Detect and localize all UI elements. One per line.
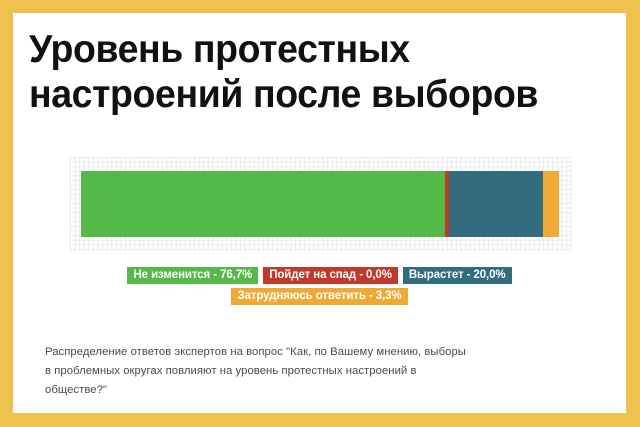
infographic-poster: Уровень протестных настроений после выбо… — [0, 0, 640, 427]
page-title: Уровень протестных настроений после выбо… — [29, 27, 609, 117]
legend-item-poydet-na-spad[interactable]: Пойдет на спад - 0,0% — [263, 267, 398, 284]
stacked-bar — [81, 171, 559, 237]
page-title-line-1: Уровень протестных — [29, 27, 586, 72]
legend-item-zatrudnyayus-otvetit[interactable]: Затрудняюсь ответить - 3,3% — [231, 288, 407, 305]
chart-caption: Распределение ответов экспертов на вопро… — [45, 343, 594, 400]
legend-item-ne-izmenitsya[interactable]: Не изменится - 76,7% — [127, 267, 258, 284]
bar-segment-vyrastet — [449, 171, 544, 237]
caption-line-3: обществе?" — [45, 381, 594, 400]
caption-line-1: Распределение ответов экспертов на вопро… — [45, 343, 594, 362]
poster-card: Уровень протестных настроений после выбо… — [13, 13, 626, 413]
bar-segment-zatrudnyayus-otvetit — [543, 171, 559, 237]
chart-plot-area — [70, 157, 572, 251]
chart-legend: Не изменится - 76,7% Пойдет на спад - 0,… — [13, 267, 626, 309]
page-title-line-2: настроений после выборов — [29, 72, 586, 117]
caption-line-2: в проблемных округах повлияют на уровень… — [45, 362, 594, 381]
legend-row-1: Не изменится - 76,7% Пойдет на спад - 0,… — [13, 267, 626, 284]
bar-segment-ne-izmenitsya — [81, 171, 445, 237]
legend-item-vyrastet[interactable]: Вырастет - 20,0% — [403, 267, 512, 284]
legend-row-2: Затрудняюсь ответить - 3,3% — [13, 288, 626, 305]
